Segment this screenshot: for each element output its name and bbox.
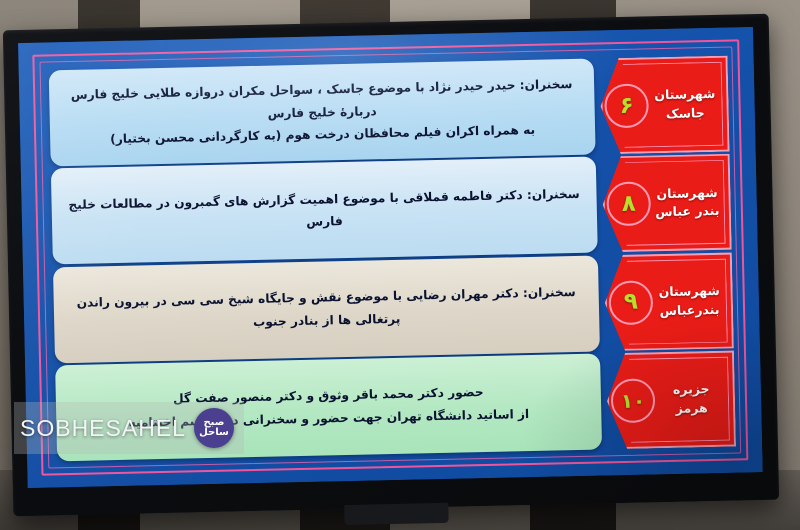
watermark-logo-text: صبح ساحل xyxy=(194,418,234,439)
tv-stand xyxy=(344,503,448,525)
row-text-box: سخنران: حیدر حیدر نژاد با موضوع جاسک ، س… xyxy=(49,59,596,167)
row-text-content: سخنران: دکتر فاطمه قملاقی با موضوع اهمیت… xyxy=(67,183,581,239)
badge-number: ۸ xyxy=(606,182,651,227)
watermark: SOBHESAHEL صبح ساحل xyxy=(14,402,244,454)
row-text-content: سخنران: حیدر حیدر نژاد با موضوع جاسک ، س… xyxy=(65,73,579,152)
badge-label: جزیره هرمز xyxy=(656,380,730,419)
row-text-box: سخنران: دکتر فاطمه قملاقی با موضوع اهمیت… xyxy=(51,157,598,265)
schedule-rows: شهرستان جاسک ۶ سخنران: حیدر حیدر نژاد با… xyxy=(49,56,736,462)
schedule-row: شهرستان بندر عباس ۸ سخنران: دکتر فاطمه ق… xyxy=(51,154,732,265)
badge-label: شهرستان جاسک xyxy=(649,85,723,124)
row-text-line1: سخنران: دکتر مهران رضایی با موضوع نقش و … xyxy=(77,285,576,329)
row-text-line2: به همراه اکران فیلم محافظان درخت هوم (به… xyxy=(110,123,535,146)
schedule-row: شهرستان جاسک ۶ سخنران: حیدر حیدر نژاد با… xyxy=(49,56,730,167)
row-text-line1: سخنران: حیدر حیدر نژاد با موضوع جاسک ، س… xyxy=(71,77,573,120)
row-text-content: سخنران: دکتر مهران رضایی با موضوع نقش و … xyxy=(70,281,584,337)
location-badge: شهرستان بندرعباس ۹ xyxy=(604,252,734,351)
location-badge: شهرستان بندر عباس ۸ xyxy=(602,154,732,253)
badge-label-line1: شهرستان xyxy=(649,85,720,105)
badge-label-line1: شهرستان xyxy=(651,183,722,203)
badge-label: شهرستان بندر عباس xyxy=(651,183,725,222)
watermark-text: SOBHESAHEL xyxy=(20,415,186,442)
badge-label: شهرستان بندرعباس xyxy=(653,282,727,321)
screenshot-stage: شهرستان جاسک ۶ سخنران: حیدر حیدر نژاد با… xyxy=(0,0,800,530)
badge-label-line2: بندر عباس xyxy=(652,202,723,222)
badge-label-line1: جزیره xyxy=(656,380,727,400)
watermark-logo-icon: صبح ساحل xyxy=(194,408,234,448)
schedule-row: شهرستان بندرعباس ۹ سخنران: دکتر مهران رض… xyxy=(53,252,734,363)
badge-number: ۹ xyxy=(608,280,653,325)
location-badge: جزیره هرمز ۱۰ xyxy=(606,351,736,450)
badge-label-line2: بندرعباس xyxy=(654,300,725,320)
row-text-line1: سخنران: دکتر فاطمه قملاقی با موضوع اهمیت… xyxy=(68,187,580,230)
badge-label-line1: شهرستان xyxy=(653,282,724,302)
badge-number: ۶ xyxy=(604,83,649,128)
badge-number: ۱۰ xyxy=(611,378,656,423)
badge-label-line2: جاسک xyxy=(650,104,721,124)
badge-label-line2: هرمز xyxy=(656,399,727,419)
row-text-box: سخنران: دکتر مهران رضایی با موضوع نقش و … xyxy=(53,255,600,363)
location-badge: شهرستان جاسک ۶ xyxy=(600,56,730,155)
